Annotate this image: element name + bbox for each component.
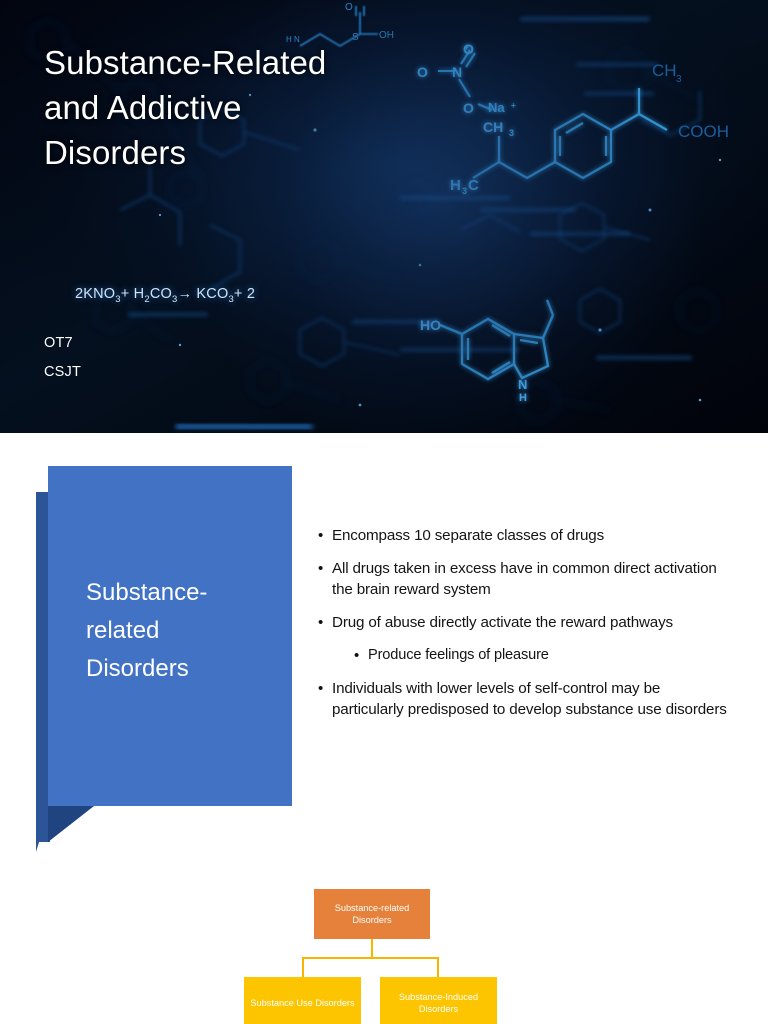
author-line-1: OT7 xyxy=(44,335,73,351)
bullet-list: • Encompass 10 separate classes of drugs… xyxy=(318,525,732,732)
org-node-root-label: Substance-related Disorders xyxy=(318,902,426,927)
connector-drop-left xyxy=(302,957,304,977)
org-node-left-label: Substance Use Disorders xyxy=(250,997,354,1010)
title-line-3: Disorders xyxy=(44,134,186,171)
list-item-text: Drug of abuse directly activate the rewa… xyxy=(332,612,732,633)
svg-text:3: 3 xyxy=(509,128,514,138)
svg-text:CH: CH xyxy=(483,119,503,135)
svg-text:H: H xyxy=(450,177,461,194)
org-node-substance-induced-disorders: Substance-Induced Disorders xyxy=(380,977,497,1024)
org-node-right-label: Substance-Induced Disorders xyxy=(384,991,493,1016)
title-line-1: Substance-Related xyxy=(44,44,326,81)
list-item-sub: • Produce feelings of pleasure xyxy=(354,645,732,666)
title-line-2: and Addictive xyxy=(44,89,242,126)
bullet-icon: • xyxy=(318,558,332,600)
org-node-root: Substance-related Disorders xyxy=(314,889,430,939)
svg-text:O: O xyxy=(417,64,428,80)
svg-text:N: N xyxy=(452,64,462,80)
ribbon-label-line-3: Disorders xyxy=(86,655,189,682)
svg-text:+: + xyxy=(511,101,516,110)
list-item: • Drug of abuse directly activate the re… xyxy=(318,612,732,633)
presentation-page: O OH H N S O N + O O Na + xyxy=(0,0,768,1024)
chemical-equation: 2KNO3+ H2CO3→ KCO3+ 2 xyxy=(75,286,255,305)
svg-text:CH: CH xyxy=(652,61,677,80)
svg-text:N: N xyxy=(518,377,527,392)
svg-text:O: O xyxy=(463,41,474,57)
list-item-text: Encompass 10 separate classes of drugs xyxy=(332,525,732,546)
ribbon-callout: Substance- related Disorders xyxy=(36,466,296,876)
ribbon-label-line-1: Substance- xyxy=(86,579,207,606)
svg-text:O: O xyxy=(345,2,353,13)
ribbon-panel: Substance- related Disorders xyxy=(48,466,292,806)
svg-text:3: 3 xyxy=(676,74,682,85)
page-title: Substance-Related and Addictive Disorder… xyxy=(44,40,384,175)
connector-horizontal xyxy=(302,957,439,959)
connector-stub xyxy=(371,939,373,959)
bullet-icon: • xyxy=(354,645,368,666)
svg-text:C: C xyxy=(468,177,479,194)
slide-content: Substance- related Disorders • Encompass… xyxy=(0,433,768,1024)
list-item: • Individuals with lower levels of self-… xyxy=(318,678,732,720)
ribbon-label-line-2: related xyxy=(86,617,159,644)
author-line-2: CSJT xyxy=(44,364,81,380)
svg-text:H: H xyxy=(519,392,527,404)
svg-text:O: O xyxy=(463,100,474,116)
svg-text:3: 3 xyxy=(462,186,467,196)
list-item-text: Individuals with lower levels of self-co… xyxy=(332,678,732,720)
list-item-text: Produce feelings of pleasure xyxy=(368,645,732,666)
svg-text:Na: Na xyxy=(488,100,505,115)
ribbon-label: Substance- related Disorders xyxy=(86,574,286,688)
org-chart: Substance-related Disorders Substance Us… xyxy=(240,889,532,1024)
slide-title: O OH H N S O N + O O Na + xyxy=(0,0,768,433)
ribbon-notch xyxy=(48,806,94,842)
svg-text:HO: HO xyxy=(420,317,441,333)
bullet-icon: • xyxy=(318,525,332,546)
bullet-icon: • xyxy=(318,678,332,720)
connector-drop-right xyxy=(437,957,439,977)
org-node-substance-use-disorders: Substance Use Disorders xyxy=(244,977,361,1024)
list-item: • All drugs taken in excess have in comm… xyxy=(318,558,732,600)
list-item: • Encompass 10 separate classes of drugs xyxy=(318,525,732,546)
bullet-icon: • xyxy=(318,612,332,633)
svg-text:COOH: COOH xyxy=(678,122,729,141)
list-item-text: All drugs taken in excess have in common… xyxy=(332,558,732,600)
